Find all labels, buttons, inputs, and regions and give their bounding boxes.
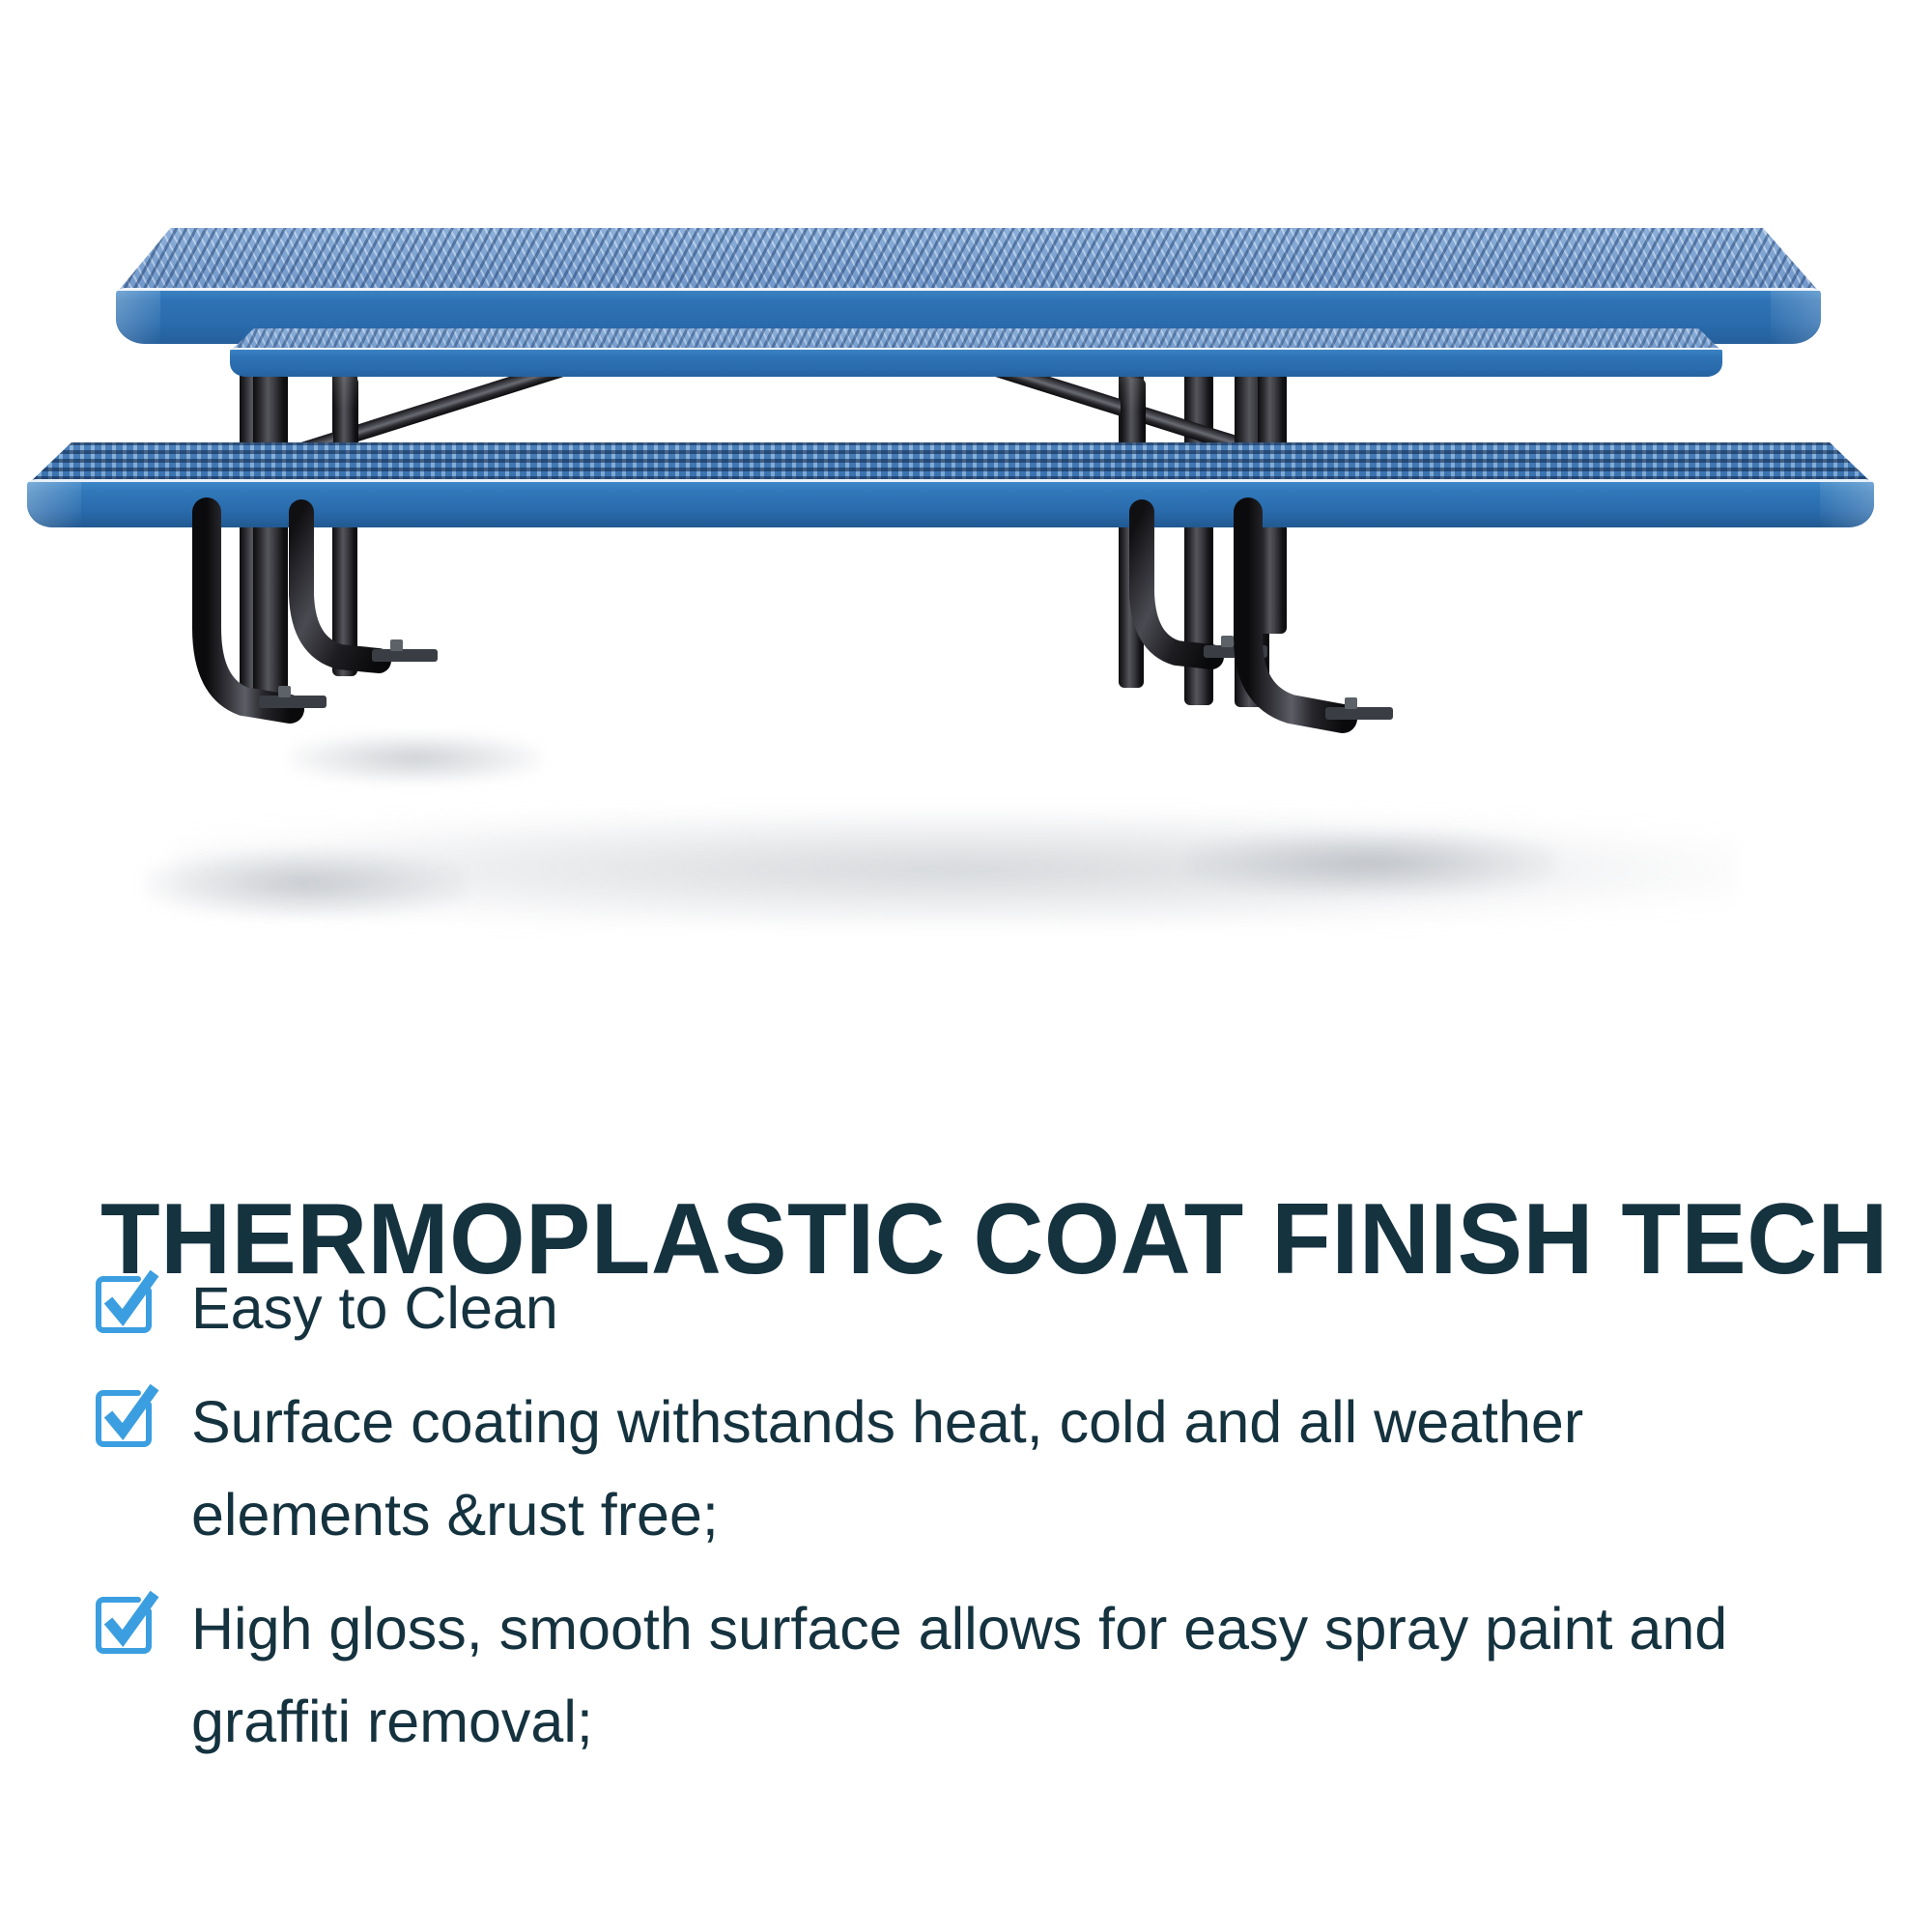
list-item: High gloss, smooth surface allows for ea… (93, 1582, 1880, 1768)
picnic-table-illustration (0, 0, 1932, 1082)
anchor-bolt-right (1221, 636, 1234, 647)
bench-back (230, 328, 1722, 377)
anchor-plate-left (372, 649, 438, 662)
checkbox-checked-icon (93, 1385, 156, 1449)
feature-text-area: THERMOPLASTIC COAT FINISH TECH Easy to C… (0, 1082, 1932, 1932)
feature-label: High gloss, smooth surface allows for ea… (191, 1582, 1824, 1768)
lower-leg-frames (0, 502, 1932, 792)
feature-list: Easy to Clean Surface coating withstands… (93, 1262, 1880, 1789)
product-feature-page: THERMOPLASTIC COAT FINISH TECH Easy to C… (0, 0, 1932, 1932)
checkbox-checked-icon (93, 1592, 156, 1656)
anchor-plate-far-right (1325, 707, 1393, 720)
product-image-area (0, 0, 1932, 1082)
anchor-bolt-far-left (278, 686, 291, 697)
list-item: Surface coating withstands heat, cold an… (93, 1376, 1880, 1561)
list-item: Easy to Clean (93, 1262, 1880, 1354)
leg-right-outer-curve (1248, 512, 1343, 719)
leg-left-outer-curve (207, 512, 290, 709)
anchor-bolt-far-right (1345, 697, 1357, 709)
checkbox-checked-icon (93, 1271, 156, 1335)
table-top-mesh-surface (116, 228, 1821, 294)
leg-shadow-left (145, 850, 464, 918)
feature-label: Surface coating withstands heat, cold an… (191, 1376, 1824, 1561)
anchor-plate-far-left (259, 696, 327, 708)
bench-back-edge-rim (230, 348, 1722, 377)
leg-left-inner-curve (301, 512, 379, 661)
anchor-bolt-left (390, 639, 403, 651)
table-top (116, 228, 1821, 344)
leg-shadow-right (1188, 831, 1555, 895)
leg-right-inner-curve (1142, 512, 1211, 657)
feature-label: Easy to Clean (191, 1262, 558, 1354)
